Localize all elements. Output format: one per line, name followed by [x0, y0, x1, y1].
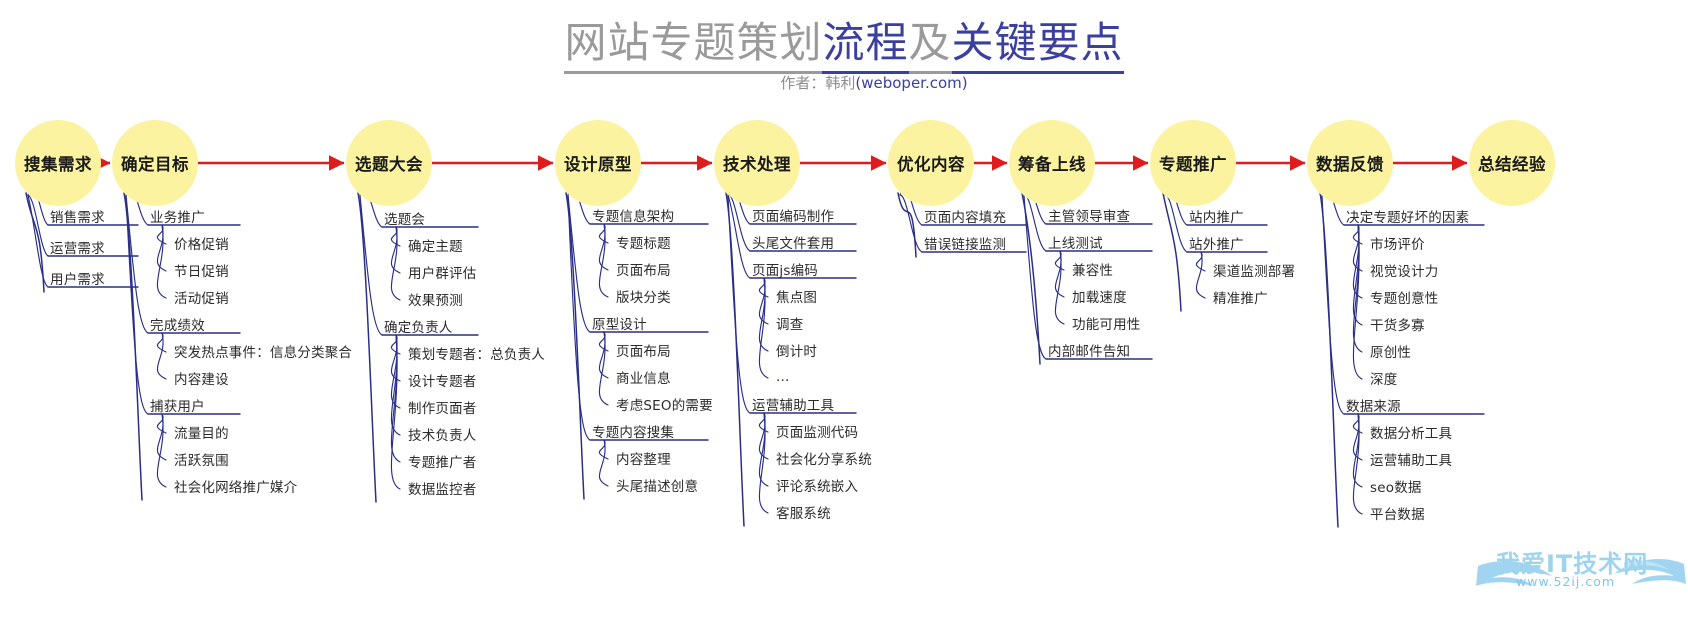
branch-label-l2[interactable]: 兼容性: [1072, 259, 1113, 279]
branch-curve-l2: [599, 332, 608, 378]
branch-label-l1[interactable]: 站外推广: [1189, 233, 1244, 253]
branch-label-l1[interactable]: 确定负责人: [384, 316, 453, 336]
branch-label-l1[interactable]: 页面js编码: [752, 259, 818, 279]
branch-curve-l1: [728, 195, 750, 278]
branch-label-l2[interactable]: 专题创意性: [1370, 287, 1439, 307]
connector-lines: [0, 0, 1688, 621]
branch-curve-l2: [1353, 225, 1362, 271]
branch-curve-l2: [599, 332, 608, 405]
branch-trunk-s7: [1022, 193, 1040, 364]
branch-curve-l2: [157, 414, 166, 460]
branch-label-l1[interactable]: 运营需求: [50, 237, 105, 257]
stage-node-label-1: 搜集需求: [24, 151, 92, 175]
branch-label-l2[interactable]: 原创性: [1370, 341, 1411, 361]
stage-node-label-5: 技术处理: [723, 151, 791, 175]
branch-label-l2[interactable]: ...: [776, 369, 789, 385]
title-segment-1: 网站专题策划: [564, 18, 822, 74]
branch-curve-l2: [599, 332, 608, 351]
branch-label-l2[interactable]: 效果预测: [408, 289, 463, 309]
branch-curve-l2: [1353, 414, 1362, 433]
branch-curve-l2: [759, 413, 768, 432]
branch-label-l2[interactable]: 页面监测代码: [776, 421, 858, 441]
branch-label-l2[interactable]: 运营辅助工具: [1370, 449, 1452, 469]
title-segment-3: 及: [909, 18, 952, 74]
branch-label-l2[interactable]: 技术负责人: [408, 424, 477, 444]
branch-curve-l2: [1055, 251, 1064, 297]
branch-curve-l2: [759, 413, 768, 513]
branch-label-l2[interactable]: 突发热点事件：信息分类聚合: [174, 341, 352, 361]
branch-curve-l1: [568, 195, 590, 332]
branch-label-l1[interactable]: 完成绩效: [150, 314, 205, 334]
branch-label-l1[interactable]: 销售需求: [50, 206, 105, 226]
branch-label-l2[interactable]: 活跃氛围: [174, 449, 229, 469]
branch-trunk-s1: [26, 193, 44, 292]
branch-label-l2[interactable]: 价格促销: [174, 233, 229, 253]
branch-label-l2[interactable]: 制作页面者: [408, 397, 477, 417]
branch-curve-l2: [759, 413, 768, 459]
branch-label-l2[interactable]: 市场评价: [1370, 233, 1425, 253]
branch-curve-l1: [126, 195, 148, 414]
branch-curve-l2: [1353, 225, 1362, 352]
stage-node-label-2: 确定目标: [121, 151, 189, 175]
branch-curve-l2: [759, 278, 768, 378]
stage-node-label-3: 选题大会: [355, 151, 423, 175]
branch-label-l2[interactable]: 内容建设: [174, 368, 229, 388]
branch-label-l1[interactable]: 选题会: [384, 208, 425, 228]
branch-curve-l2: [391, 335, 400, 435]
branch-label-l2[interactable]: 功能可用性: [1072, 313, 1141, 333]
branch-curve-l2: [599, 224, 608, 270]
branch-label-l2[interactable]: 视觉设计力: [1370, 260, 1439, 280]
branch-label-l2[interactable]: 渠道监测部署: [1213, 260, 1295, 280]
branch-label-l2[interactable]: 倒计时: [776, 340, 817, 360]
branch-label-l2[interactable]: 设计专题者: [408, 370, 477, 390]
branch-label-l1[interactable]: 业务推广: [150, 206, 205, 226]
stage-node-label-7: 筹备上线: [1018, 151, 1086, 175]
branch-label-l2[interactable]: 专题推广者: [408, 451, 477, 471]
stage-node-label-8: 专题推广: [1159, 151, 1227, 175]
branch-label-l2[interactable]: 社会化分享系统: [776, 448, 872, 468]
branch-label-l1[interactable]: 专题内容搜集: [592, 421, 674, 441]
branch-curve-l2: [1353, 414, 1362, 514]
branch-label-l2[interactable]: 调查: [776, 313, 803, 333]
branch-curve-l2: [157, 414, 166, 433]
branch-curve-l2: [391, 227, 400, 273]
branch-label-l2[interactable]: 加载速度: [1072, 286, 1127, 306]
branch-label-l2[interactable]: 社会化网络推广媒介: [174, 476, 297, 496]
branch-label-l1[interactable]: 专题信息架构: [592, 205, 674, 225]
branch-curve-l2: [1353, 225, 1362, 325]
branch-curve-l2: [391, 335, 400, 354]
mindmap-canvas: 网站专题策划流程及关键要点 作者：韩利(weboper.com) 搜集需求确定目…: [0, 0, 1688, 621]
watermark: 我爱IT技术网 www.52ij.com: [1474, 536, 1688, 606]
branch-label-l2[interactable]: 用户群评估: [408, 262, 477, 282]
branch-curve-l2: [759, 278, 768, 297]
branch-label-l2[interactable]: 活动促销: [174, 287, 229, 307]
branch-label-l1[interactable]: 错误链接监测: [924, 233, 1006, 253]
branch-curve-l2: [1055, 251, 1064, 270]
branch-curve-l2: [391, 335, 400, 381]
branch-label-l2[interactable]: 确定主题: [408, 235, 463, 255]
branch-label-l2[interactable]: 评论系统嵌入: [776, 475, 858, 495]
branch-curve-l1: [1024, 195, 1046, 359]
branch-label-l2[interactable]: 节日促销: [174, 260, 229, 280]
branch-label-l2[interactable]: 深度: [1370, 368, 1397, 388]
branch-label-l1[interactable]: 数据来源: [1346, 395, 1401, 415]
stage-node-label-10: 总结经验: [1478, 151, 1546, 175]
branch-curve-l2: [1196, 252, 1205, 298]
author-name: 作者：韩利: [780, 74, 855, 92]
branch-curve-l2: [391, 335, 400, 462]
branch-label-l2[interactable]: 策划专题者：总负责人: [408, 343, 545, 363]
branch-label-l1[interactable]: 主管领导审查: [1048, 205, 1130, 225]
branch-curve-l1: [568, 195, 590, 440]
branch-label-l2[interactable]: seo数据: [1370, 476, 1422, 496]
branch-label-l2[interactable]: 商业信息: [616, 367, 671, 387]
branch-curve-l2: [1353, 414, 1362, 487]
branch-curve-l1: [28, 195, 48, 287]
branch-curve-l2: [759, 278, 768, 351]
branch-curve-l2: [599, 440, 608, 486]
branch-label-l1[interactable]: 站内推广: [1189, 206, 1244, 226]
branch-curve-l2: [1353, 414, 1362, 460]
branch-curve-l2: [599, 224, 608, 297]
branch-label-l2[interactable]: 页面布局: [616, 259, 671, 279]
branch-curve-l2: [157, 333, 166, 352]
branch-label-l2[interactable]: 内容整理: [616, 448, 671, 468]
branch-curve-l1: [360, 195, 382, 335]
branch-label-l2[interactable]: 焦点图: [776, 286, 817, 306]
branch-curve-l2: [1196, 252, 1205, 271]
branch-curve-l2: [759, 413, 768, 486]
branch-curve-l1: [1322, 195, 1344, 414]
branch-label-l1[interactable]: 页面内容填充: [924, 206, 1006, 226]
branch-curve-l2: [599, 224, 608, 243]
stage-node-label-6: 优化内容: [897, 151, 965, 175]
branch-label-l2[interactable]: 版块分类: [616, 286, 671, 306]
branch-label-l2[interactable]: 精准推广: [1213, 287, 1268, 307]
branch-label-l2[interactable]: 干货多寡: [1370, 314, 1425, 334]
author-site: (weboper.com): [855, 74, 967, 92]
branch-curve-l2: [391, 227, 400, 246]
branch-curve-l2: [599, 440, 608, 459]
branch-label-l1[interactable]: 头尾文件套用: [752, 232, 834, 252]
branch-label-l2[interactable]: 客服系统: [776, 502, 831, 522]
stage-node-label-4: 设计原型: [564, 151, 632, 175]
title-segment-2: 流程: [822, 18, 908, 74]
branch-curve-l2: [1353, 225, 1362, 298]
branch-curve-l2: [157, 414, 166, 487]
branch-curve-l2: [157, 225, 166, 244]
title-segment-4: 关键要点: [952, 18, 1124, 74]
branch-curve-l1: [728, 195, 750, 413]
branch-label-l2[interactable]: 数据监控者: [408, 478, 477, 498]
branch-label-l1[interactable]: 用户需求: [50, 268, 105, 288]
branch-trunk-s5: [726, 193, 744, 526]
branch-curve-l2: [1353, 225, 1362, 379]
branch-label-l1[interactable]: 原型设计: [592, 313, 647, 333]
branch-curve-l2: [391, 227, 400, 300]
branch-label-l1[interactable]: 捕获用户: [150, 395, 205, 415]
branch-curve-l1: [126, 195, 148, 333]
branch-label-l2[interactable]: 专题标题: [616, 232, 671, 252]
branch-curve-l2: [759, 278, 768, 324]
author-subtitle: 作者：韩利(weboper.com): [0, 72, 1688, 93]
branch-trunk-s9: [1320, 193, 1338, 527]
branch-trunk-s8: [1163, 193, 1181, 311]
branch-trunk-s4: [566, 193, 584, 499]
branch-label-l2[interactable]: 数据分析工具: [1370, 422, 1452, 442]
branch-label-l2[interactable]: 页面布局: [616, 340, 671, 360]
branch-label-l2[interactable]: 头尾描述创意: [616, 475, 698, 495]
branch-curve-l2: [391, 335, 400, 408]
branch-curve-l2: [391, 335, 400, 489]
branch-label-l2[interactable]: 流量目的: [174, 422, 229, 442]
branch-curve-l2: [1055, 251, 1064, 324]
watermark-url: www.52ij.com: [1516, 574, 1615, 589]
branch-curve-l2: [157, 333, 166, 379]
branch-label-l1[interactable]: 决定专题好坏的因素: [1346, 206, 1469, 226]
branch-label-l1[interactable]: 内部邮件告知: [1048, 340, 1130, 360]
branch-curve-l2: [1353, 225, 1362, 244]
branch-label-l1[interactable]: 上线测试: [1048, 232, 1103, 252]
branch-label-l1[interactable]: 运营辅助工具: [752, 394, 834, 414]
branch-trunk-s3: [358, 193, 376, 502]
branch-curve-l2: [157, 225, 166, 271]
branch-label-l1[interactable]: 页面编码制作: [752, 205, 834, 225]
page-title: 网站专题策划流程及关键要点: [0, 18, 1688, 68]
stage-node-label-9: 数据反馈: [1316, 151, 1384, 175]
branch-trunk-s2: [124, 193, 142, 500]
branch-curve-l2: [157, 225, 166, 298]
branch-label-l2[interactable]: 考虑SEO的需要: [616, 394, 713, 414]
branch-label-l2[interactable]: 平台数据: [1370, 503, 1425, 523]
